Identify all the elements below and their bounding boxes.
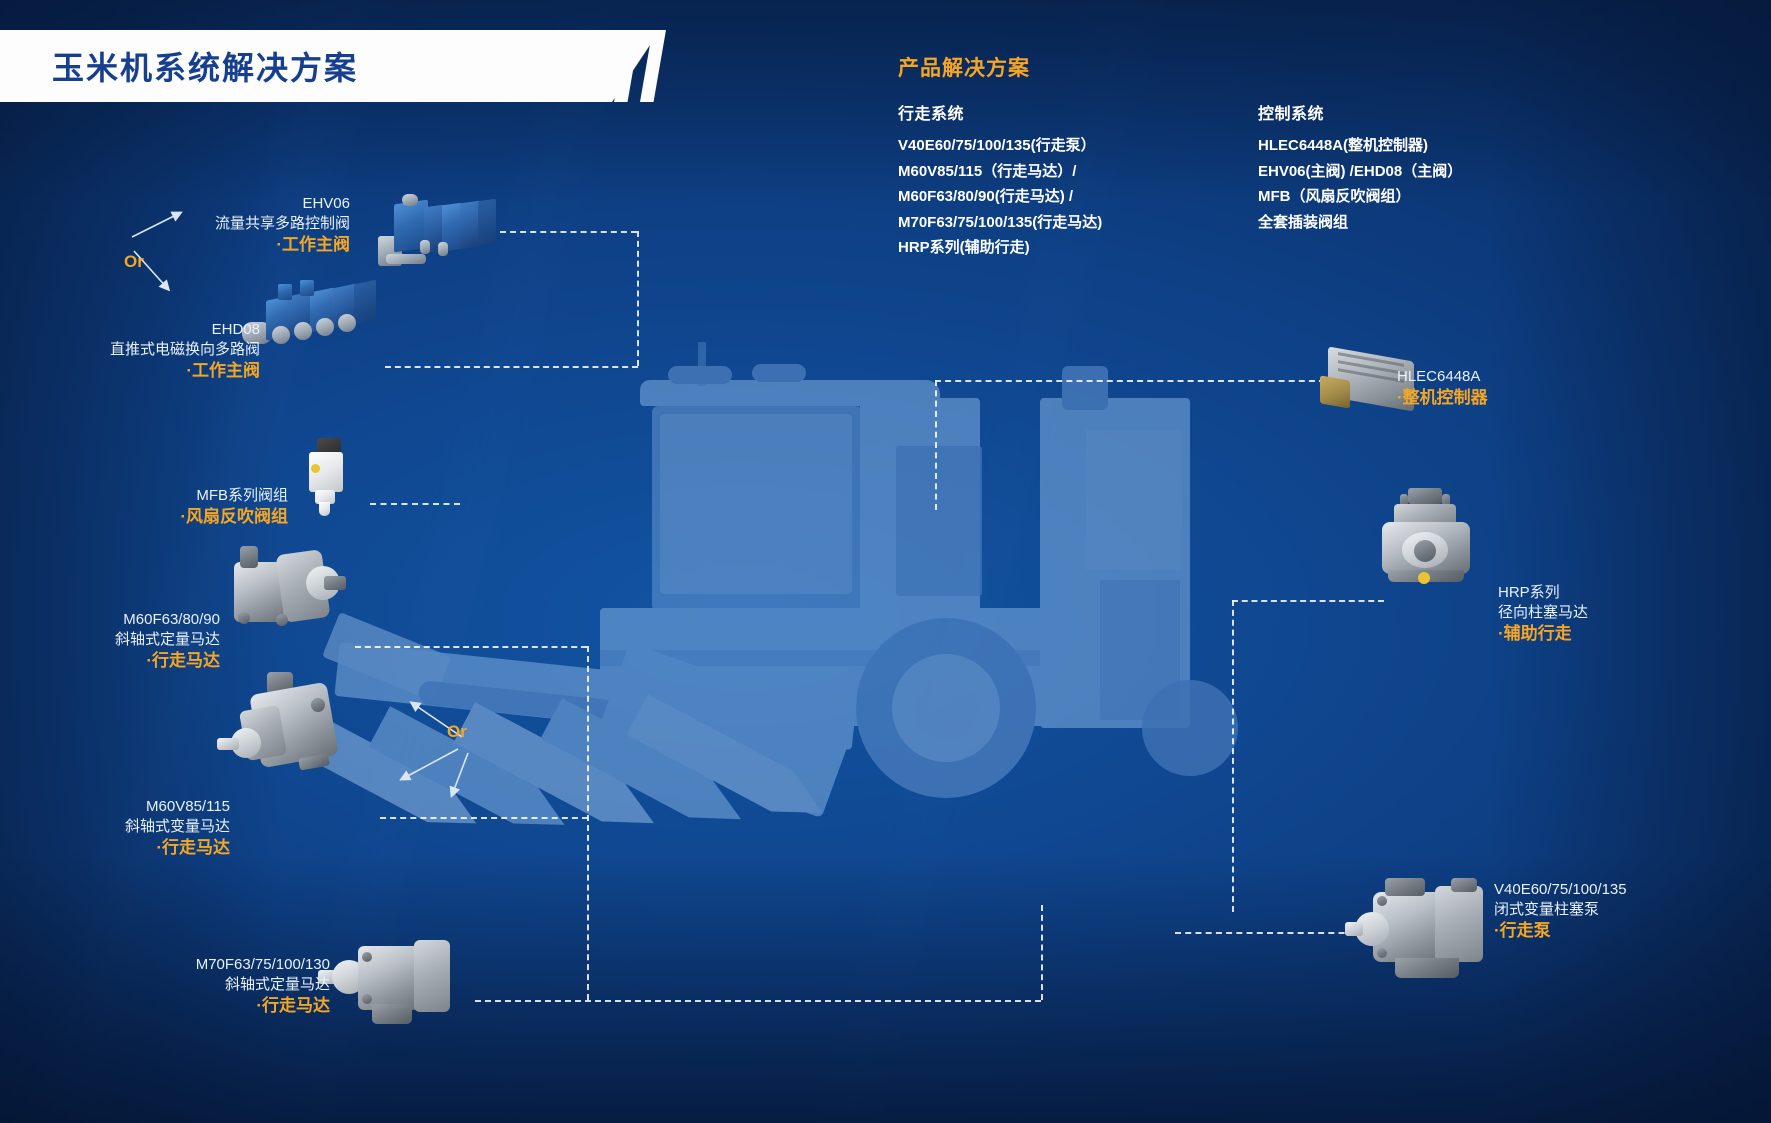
- callout-code: HLEC6448A: [1397, 367, 1637, 387]
- callout-m70f: M70F63/75/100/130 斜轴式定量马达 ·行走马达: [60, 955, 330, 1018]
- callout-ehv06: EHV06 流量共享多路控制阀 ·工作主阀: [100, 194, 350, 257]
- spec-line: MFB（风扇反吹阀组）: [1258, 184, 1518, 210]
- connector-m60v-horizontal: [380, 817, 588, 819]
- connector-ehv06-vertical: [637, 231, 639, 366]
- spec-line: HRP系列(辅助行走): [898, 235, 1198, 261]
- connector-mfb-horizontal: [370, 503, 460, 505]
- connector-ehv06-horizontal: [500, 231, 637, 233]
- mfb-valve-image: [295, 438, 355, 518]
- spec-heading: 控制系统: [1258, 100, 1518, 124]
- connector-hrp-vertical: [1232, 600, 1234, 912]
- callout-tag: ·行走泵: [1494, 920, 1754, 943]
- callout-code: M60F63/80/90: [0, 610, 220, 630]
- connector-v40e-horizontal: [1175, 932, 1365, 934]
- callout-desc: 径向柱塞马达: [1498, 603, 1738, 623]
- spec-line: M60V85/115（行走马达）/: [898, 159, 1198, 185]
- connector-hrp-horizontal: [1232, 600, 1384, 602]
- connector-hlec-vertical: [935, 380, 937, 510]
- spec-line: V40E60/75/100/135(行走泵）: [898, 133, 1198, 159]
- callout-hlec: HLEC6448A ·整机控制器: [1397, 367, 1637, 410]
- ehd08-valve-image: [242, 282, 392, 362]
- spec-line: HLEC6448A(整机控制器): [1258, 133, 1518, 159]
- callout-tag: ·行走马达: [5, 837, 230, 860]
- callout-tag: ·工作主阀: [100, 234, 350, 257]
- spec-line: EHV06(主阀) /EHD08（主阀）: [1258, 159, 1518, 185]
- callout-desc: 斜轴式变量马达: [5, 817, 230, 837]
- callout-code: MFB系列阀组: [70, 486, 288, 506]
- page-title: 玉米机系统解决方案: [52, 43, 358, 89]
- callout-code: V40E60/75/100/135: [1494, 880, 1754, 900]
- callout-hrp: HRP系列 径向柱塞马达 ·辅助行走: [1498, 583, 1738, 646]
- callout-code: EHV06: [100, 194, 350, 214]
- callout-desc: 流量共享多路控制阀: [100, 214, 350, 234]
- callout-tag: ·风扇反吹阀组: [70, 506, 288, 529]
- spec-column-travel-system: 行走系统 V40E60/75/100/135(行走泵） M60V85/115（行…: [898, 100, 1198, 261]
- callout-v40e: V40E60/75/100/135 闭式变量柱塞泵 ·行走泵: [1494, 880, 1754, 943]
- m60f-motor-image: [228, 538, 348, 638]
- spec-line: M60F63/80/90(行走马达) /: [898, 184, 1198, 210]
- callout-m60v: M60V85/115 斜轴式变量马达 ·行走马达: [5, 797, 230, 860]
- v40e-pump-image: [1355, 878, 1505, 988]
- connector-m70f-horizontal: [475, 1000, 1041, 1002]
- header-banner: 玉米机系统解决方案: [0, 30, 700, 102]
- callout-desc: 斜轴式定量马达: [0, 630, 220, 650]
- solution-panel-title: 产品解决方案: [898, 52, 1518, 82]
- callout-desc: 闭式变量柱塞泵: [1494, 900, 1754, 920]
- product-solution-panel: 产品解决方案 行走系统 V40E60/75/100/135(行走泵） M60V8…: [898, 52, 1518, 261]
- callout-tag: ·工作主阀: [20, 360, 260, 383]
- m70f-motor-image: [318, 938, 458, 1038]
- callout-desc: 斜轴式定量马达: [60, 975, 330, 995]
- callout-tag: ·整机控制器: [1397, 387, 1637, 410]
- callout-code: HRP系列: [1498, 583, 1738, 603]
- callout-tag: ·辅助行走: [1498, 623, 1738, 646]
- callout-tag: ·行走马达: [60, 995, 330, 1018]
- callout-code: M60V85/115: [5, 797, 230, 817]
- spec-line: 全套插装阀组: [1258, 210, 1518, 236]
- connector-hlec-horizontal: [935, 380, 1325, 382]
- spec-heading: 行走系统: [898, 100, 1198, 124]
- poster-canvas: 玉米机系统解决方案 产品解决方案 行走系统 V40E60/75/100/135(…: [0, 0, 1771, 1123]
- spec-column-control-system: 控制系统 HLEC6448A(整机控制器) EHV06(主阀) /EHD08（主…: [1258, 100, 1518, 261]
- hrp-motor-image: [1372, 488, 1482, 598]
- callout-tag: ·行走马达: [0, 650, 220, 673]
- callout-desc: 直推式电磁换向多路阀: [20, 340, 260, 360]
- connector-m70f-vertical: [1041, 905, 1043, 1000]
- callout-code: EHD08: [20, 320, 260, 340]
- or-label-bottom: Or: [447, 722, 467, 742]
- callout-m60f: M60F63/80/90 斜轴式定量马达 ·行走马达: [0, 610, 220, 673]
- spec-line: M70F63/75/100/135(行走马达): [898, 210, 1198, 236]
- connector-m60f-horizontal: [355, 646, 587, 648]
- ehv06-valve-image: [372, 192, 502, 272]
- callout-mfb: MFB系列阀组 ·风扇反吹阀组: [70, 486, 288, 529]
- m60v-motor-image: [225, 672, 355, 787]
- connector-ehd08-horizontal: [385, 366, 638, 368]
- callout-code: M70F63/75/100/130: [60, 955, 330, 975]
- callout-ehd08: EHD08 直推式电磁换向多路阀 ·工作主阀: [20, 320, 260, 383]
- connector-m60f-vertical: [587, 646, 589, 1000]
